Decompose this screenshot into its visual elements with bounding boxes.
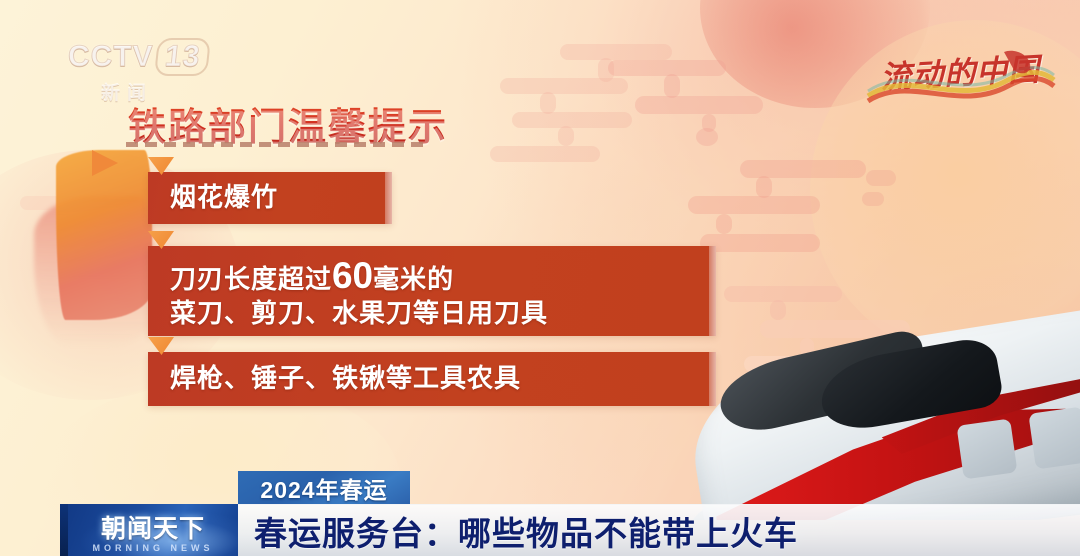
prohibited-item-bar: 烟花爆竹 [148, 172, 392, 224]
prohibited-item-text: 刀刃长度超过60毫米的 菜刀、剪刀、水果刀等日用刀具 [148, 253, 548, 330]
cloud-bar [756, 176, 772, 198]
cloud-bar [608, 60, 726, 76]
cloud-bar [598, 58, 614, 82]
headline-text: 春运服务台：哪些物品不能带上火车 [238, 507, 798, 555]
cloud-bar [700, 234, 820, 252]
cloud-bar [500, 78, 628, 94]
cctv-network-text: CCTV [68, 40, 154, 73]
cloud-bar [862, 192, 884, 206]
prohibited-item-bar: 刀刃长度超过60毫米的 菜刀、剪刀、水果刀等日用刀具 [148, 246, 716, 336]
cloud-bar [866, 170, 896, 186]
bar-right-edge [709, 352, 716, 406]
prohibited-item-line: 菜刀、剪刀、水果刀等日用刀具 [170, 298, 548, 330]
prohibited-item-bar: 焊枪、锤子、铁锹等工具农具 [148, 352, 716, 406]
cloud-bar [512, 112, 632, 128]
cloud-bar [540, 92, 556, 114]
train-window [957, 419, 1018, 480]
headline-bar: 春运服务台：哪些物品不能带上火车 [238, 504, 1080, 556]
prohibited-item-text: 焊枪、锤子、铁锹等工具农具 [148, 363, 521, 395]
slogan-ribbon-icon [862, 46, 1058, 108]
item2-number: 60 [332, 255, 373, 296]
cctv-channel-number: 13 [154, 38, 211, 76]
prohibited-item-text: 烟花爆竹 [148, 182, 278, 214]
lower-third-banner: 朝闻天下 MORNING NEWS 2024年春运 春运服务台：哪些物品不能带上… [0, 504, 1080, 556]
bar-right-edge [385, 172, 392, 224]
program-slogan-watermark: 流动的中国 [862, 46, 1058, 108]
program-name-cn: 朝闻天下 [68, 509, 238, 545]
cloud-bar [688, 196, 820, 214]
cloud-bar [664, 74, 680, 98]
prohibited-item-line: 刀刃长度超过60毫米的 [170, 253, 548, 298]
train-window [1028, 407, 1080, 470]
cloud-bar [702, 114, 716, 132]
cloud-bar [716, 214, 732, 234]
cloud-bar [560, 44, 672, 60]
cloud-bar [740, 160, 866, 178]
bar-notch-icon [148, 337, 174, 355]
cctv-wordmark: CCTV13 [68, 38, 218, 76]
cloud-bar [696, 128, 718, 146]
cloud-bar [558, 126, 574, 146]
title-underline-dashes [126, 142, 430, 147]
cctv13-channel-logo: CCTV13 新闻 [68, 38, 218, 104]
topic-tag: 2024年春运 [238, 471, 410, 504]
cloud-bar [490, 146, 600, 162]
broadcast-screen: CCTV13 新闻 流动的中国 铁路部门温馨提示 烟花爆竹 [0, 0, 1080, 556]
topic-tag-label: 2024年春运 [260, 471, 387, 505]
item2-line1-post: 毫米的 [373, 264, 454, 294]
high-speed-train-image [660, 290, 1080, 520]
program-logo: 朝闻天下 MORNING NEWS [68, 504, 238, 556]
cloud-bar [635, 96, 763, 114]
decor-arrow-icon [92, 150, 118, 176]
bar-notch-icon [148, 157, 174, 175]
program-name-en: MORNING NEWS [68, 543, 238, 553]
bar-right-edge [709, 246, 716, 336]
item2-line1-pre: 刀刃长度超过 [170, 264, 332, 294]
